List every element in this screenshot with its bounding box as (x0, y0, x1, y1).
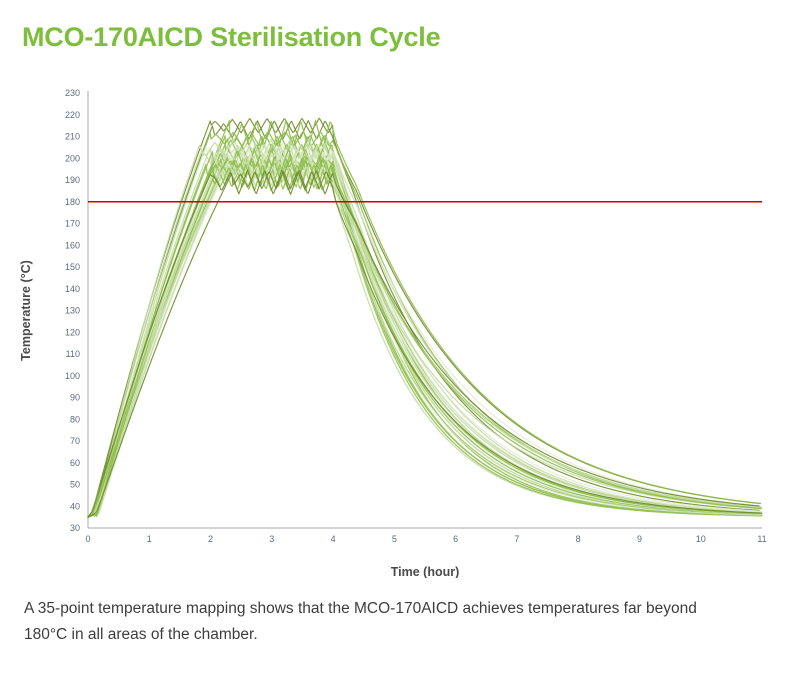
y-tick-210: 210 (65, 132, 80, 142)
x-axis-title: Time (hour) (391, 565, 460, 578)
x-tick-7: 7 (514, 534, 519, 544)
y-tick-200: 200 (65, 153, 80, 163)
curve-probe-12 (88, 143, 762, 517)
x-axis-tick-labels: 01234567891011 (85, 534, 766, 544)
y-tick-170: 170 (65, 219, 80, 229)
y-tick-40: 40 (70, 501, 80, 511)
y-tick-190: 190 (65, 175, 80, 185)
x-tick-4: 4 (331, 534, 336, 544)
figure-page: MCO-170AICD Sterilisation Cycle 30405060… (0, 0, 791, 683)
temperature-curves (88, 118, 762, 517)
x-tick-5: 5 (392, 534, 397, 544)
x-tick-8: 8 (576, 534, 581, 544)
y-tick-110: 110 (66, 349, 80, 359)
y-tick-90: 90 (70, 393, 80, 403)
x-tick-11: 11 (757, 534, 766, 544)
y-tick-100: 100 (65, 371, 80, 381)
y-axis-title: Temperature (°C) (19, 260, 33, 361)
y-tick-50: 50 (70, 480, 80, 490)
y-tick-130: 130 (65, 306, 80, 316)
page-title: MCO-170AICD Sterilisation Cycle (22, 22, 440, 53)
curve-probe-10 (88, 144, 761, 517)
y-tick-220: 220 (65, 110, 80, 120)
y-tick-30: 30 (70, 523, 80, 533)
y-tick-60: 60 (70, 458, 80, 468)
y-tick-80: 80 (70, 414, 80, 424)
x-tick-2: 2 (208, 534, 213, 544)
curve-probe-20 (88, 152, 761, 517)
y-tick-230: 230 (65, 88, 80, 98)
y-tick-150: 150 (65, 262, 80, 272)
x-tick-1: 1 (147, 534, 152, 544)
x-tick-3: 3 (269, 534, 274, 544)
x-tick-0: 0 (85, 534, 90, 544)
y-tick-180: 180 (65, 197, 80, 207)
figure-caption: A 35-point temperature mapping shows tha… (24, 596, 724, 647)
curve-probe-09 (88, 144, 759, 517)
y-axis-tick-labels: 3040506070809010011012013014015016017018… (65, 88, 80, 533)
chart-figure: 3040506070809010011012013014015016017018… (0, 78, 791, 578)
y-tick-160: 160 (65, 240, 80, 250)
x-tick-6: 6 (453, 534, 458, 544)
temperature-cycle-chart: 3040506070809010011012013014015016017018… (0, 78, 791, 578)
curve-probe-07 (88, 139, 761, 517)
x-tick-9: 9 (637, 534, 642, 544)
curve-probe-35 (88, 170, 759, 517)
y-tick-70: 70 (70, 436, 80, 446)
y-tick-120: 120 (65, 327, 80, 337)
curve-probe-31 (88, 162, 762, 518)
x-tick-10: 10 (696, 534, 706, 544)
y-tick-140: 140 (65, 284, 80, 294)
curve-probe-14 (88, 151, 762, 517)
